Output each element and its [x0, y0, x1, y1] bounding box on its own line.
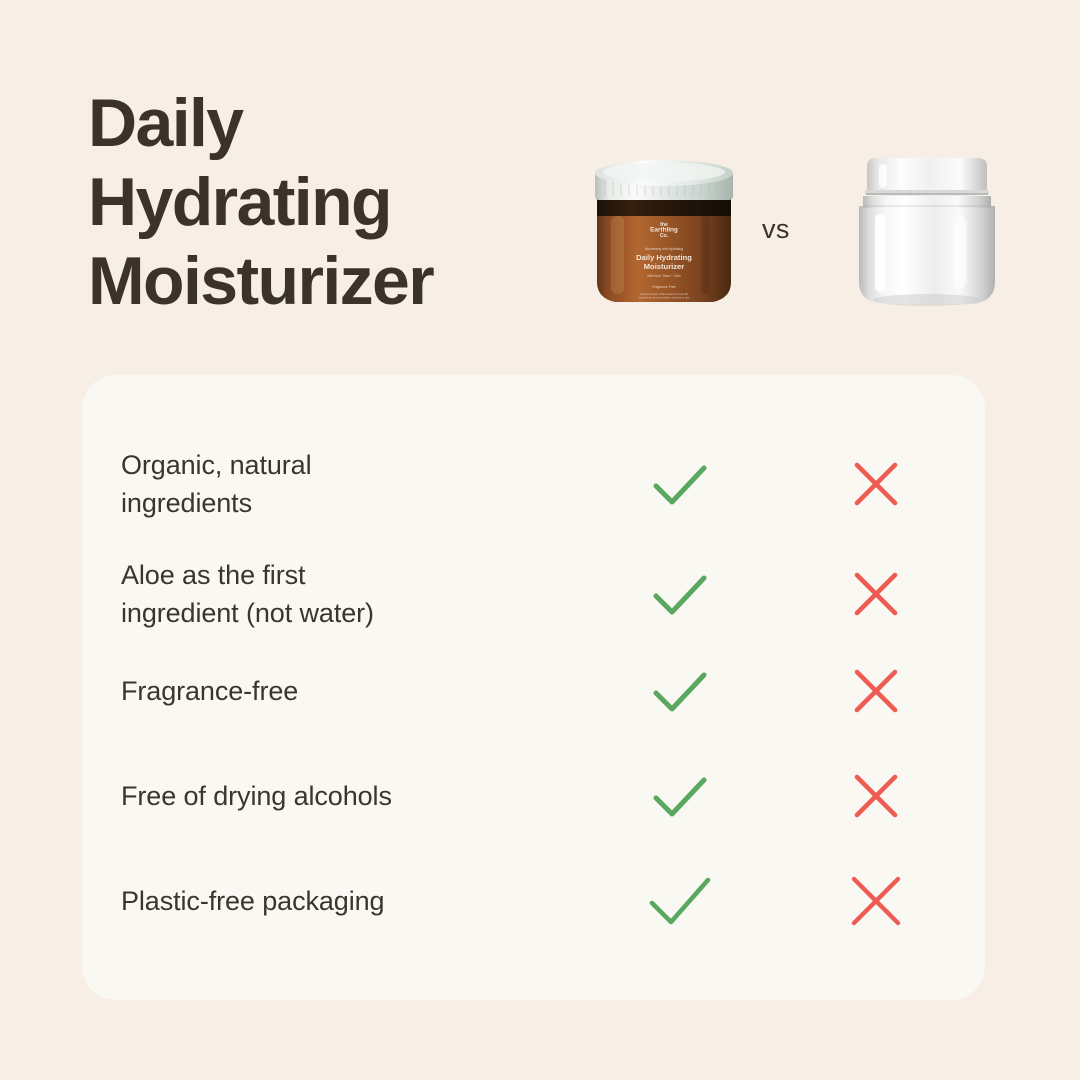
- table-row: Plastic-free packaging: [82, 873, 985, 929]
- feature-label: Organic, natural ingredients: [82, 446, 592, 523]
- svg-text:With Aloe, Shea + Olive: With Aloe, Shea + Olive: [647, 274, 681, 278]
- infographic-root: Daily Hydrating Moisturizer: [0, 0, 1080, 1080]
- svg-text:Co.: Co.: [660, 233, 669, 239]
- competitor-cell: [778, 771, 974, 821]
- table-row: Fragrance-free: [82, 663, 985, 719]
- comparison-card: Organic, natural ingredients Aloe as the…: [82, 375, 985, 1000]
- header: Daily Hydrating Moisturizer: [0, 0, 1080, 375]
- competitor-cell: [778, 666, 974, 716]
- ours-cell: [582, 570, 778, 618]
- svg-text:Deeply hydrates. Plant-based f: Deeply hydrates. Plant-based formula wit…: [640, 292, 689, 296]
- comparison-table: Organic, natural ingredients Aloe as the…: [82, 375, 985, 1000]
- check-icon: [650, 667, 710, 715]
- ours-cell: [582, 873, 778, 929]
- svg-text:Moisturizer: Moisturizer: [644, 262, 685, 271]
- competitor-cell: [778, 872, 974, 930]
- check-icon: [650, 460, 710, 508]
- feature-label: Aloe as the first ingredient (not water): [82, 556, 592, 633]
- page-title: Daily Hydrating Moisturizer: [88, 84, 558, 321]
- competitor-cell: [778, 459, 974, 509]
- cross-icon: [851, 666, 901, 716]
- feature-label: Plastic-free packaging: [82, 882, 592, 920]
- table-row: Free of drying alcohols: [82, 768, 985, 824]
- cross-icon: [851, 459, 901, 509]
- vs-label: vs: [762, 214, 790, 245]
- product-jar-ours: the Earthling Co. Nourishing and Hydrati…: [589, 150, 739, 310]
- svg-text:Daily Hydrating: Daily Hydrating: [636, 253, 692, 262]
- feature-label: Free of drying alcohols: [82, 777, 592, 815]
- check-icon: [645, 873, 715, 929]
- svg-text:Fragrance Free: Fragrance Free: [652, 285, 675, 289]
- cross-icon: [847, 872, 905, 930]
- table-row: Organic, natural ingredients: [82, 438, 985, 530]
- product-comparison-images: the Earthling Co. Nourishing and Hydrati…: [575, 140, 1015, 320]
- svg-text:Nourishing and Hydrating: Nourishing and Hydrating: [645, 247, 683, 251]
- check-icon: [650, 570, 710, 618]
- svg-text:ingredients that are healthy,: ingredients that are healthy, and kind t…: [639, 296, 690, 300]
- product-jar-competitor: [853, 148, 1001, 310]
- ours-cell: [582, 772, 778, 820]
- table-row: Aloe as the first ingredient (not water): [82, 548, 985, 640]
- check-icon: [650, 772, 710, 820]
- cross-icon: [851, 569, 901, 619]
- ours-cell: [582, 667, 778, 715]
- competitor-cell: [778, 569, 974, 619]
- ours-cell: [582, 460, 778, 508]
- feature-label: Fragrance-free: [82, 672, 592, 710]
- cross-icon: [851, 771, 901, 821]
